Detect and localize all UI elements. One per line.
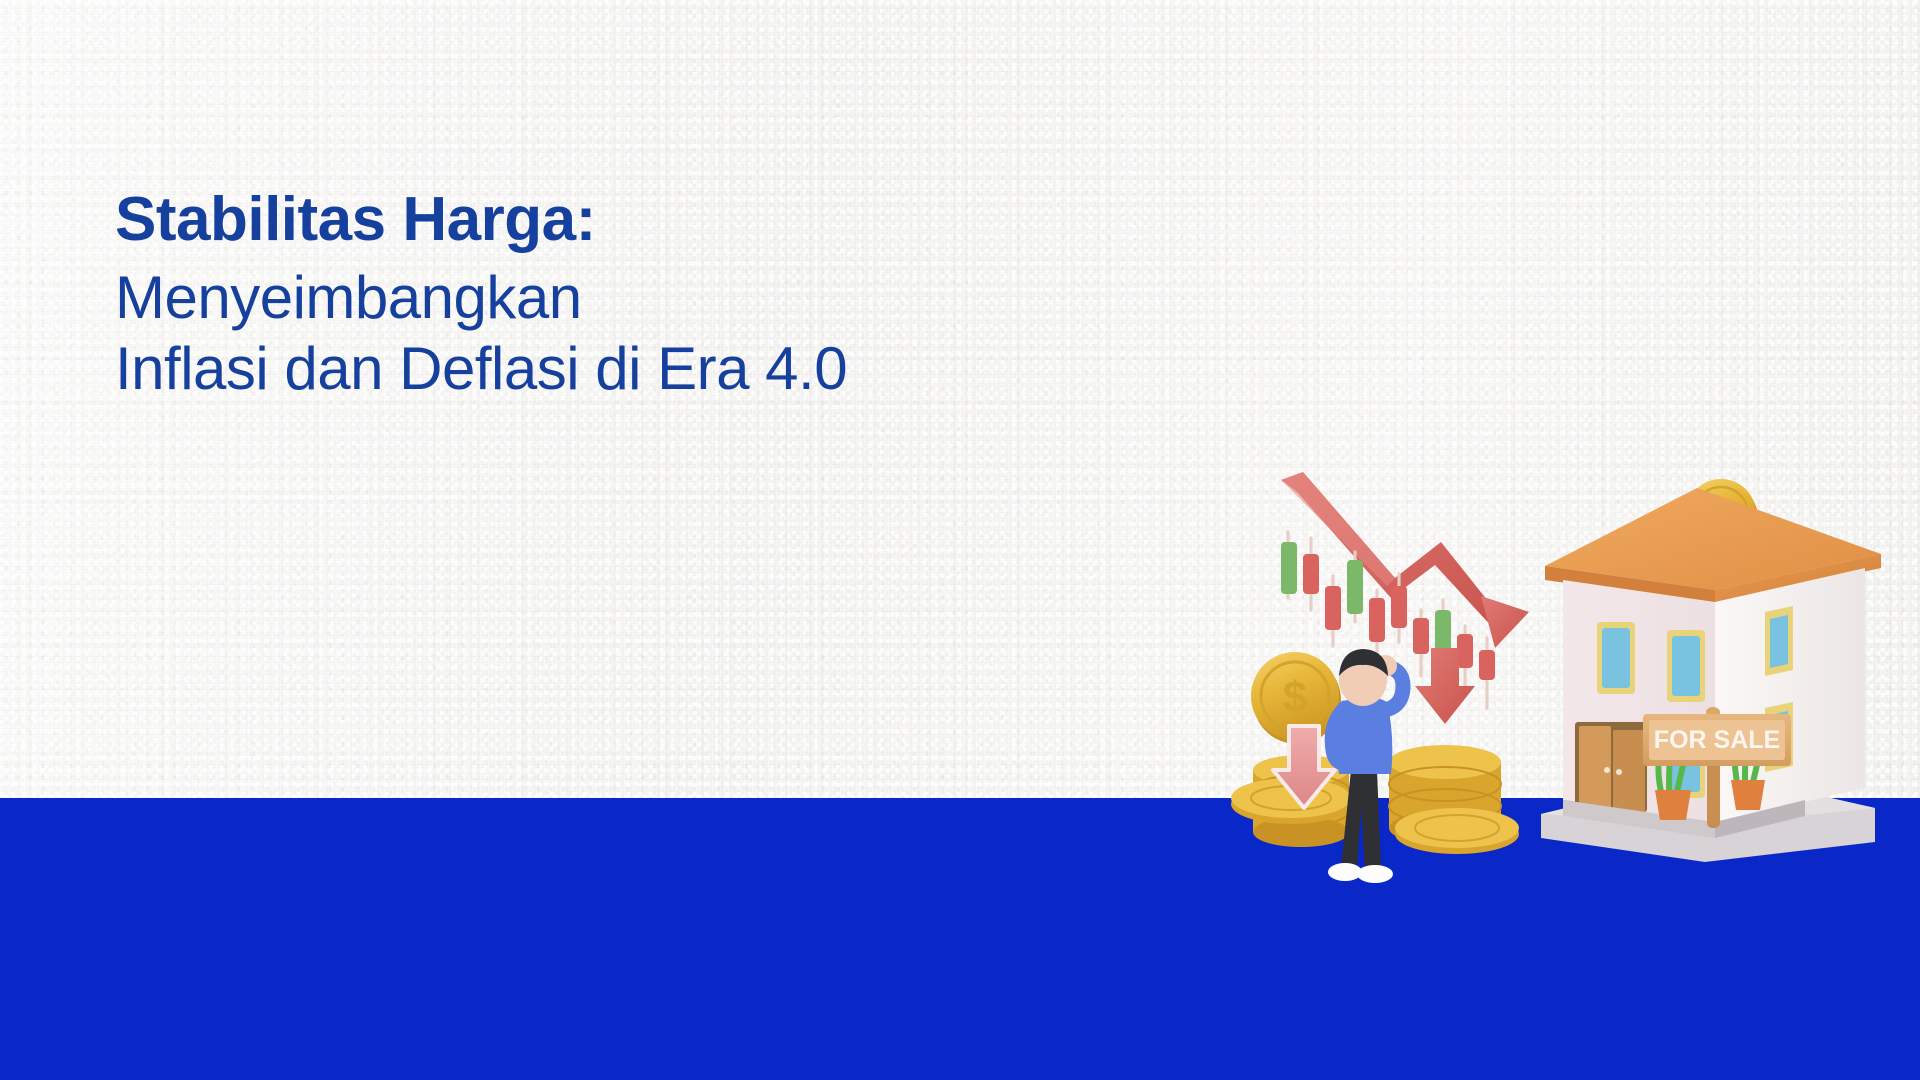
headline-line-3: Inflasi dan Deflasi di Era 4.0: [115, 338, 847, 399]
headline-line-1: Stabilitas Harga:: [115, 188, 847, 251]
for-sale-sign-label: FOR SALE: [1654, 726, 1780, 754]
svg-text:$: $: [1283, 673, 1307, 722]
house-for-sale-icon: FOR SALE: [1541, 488, 1881, 862]
house-door: [1575, 722, 1647, 814]
headline-line-2: Menyeimbangkan: [115, 267, 847, 328]
page-title: Stabilitas Harga: Menyeimbangkan Inflasi…: [115, 188, 847, 410]
banner-root: Stabilitas Harga: Menyeimbangkan Inflasi…: [0, 0, 1920, 1080]
hero-illustration: $: [1245, 470, 1875, 870]
